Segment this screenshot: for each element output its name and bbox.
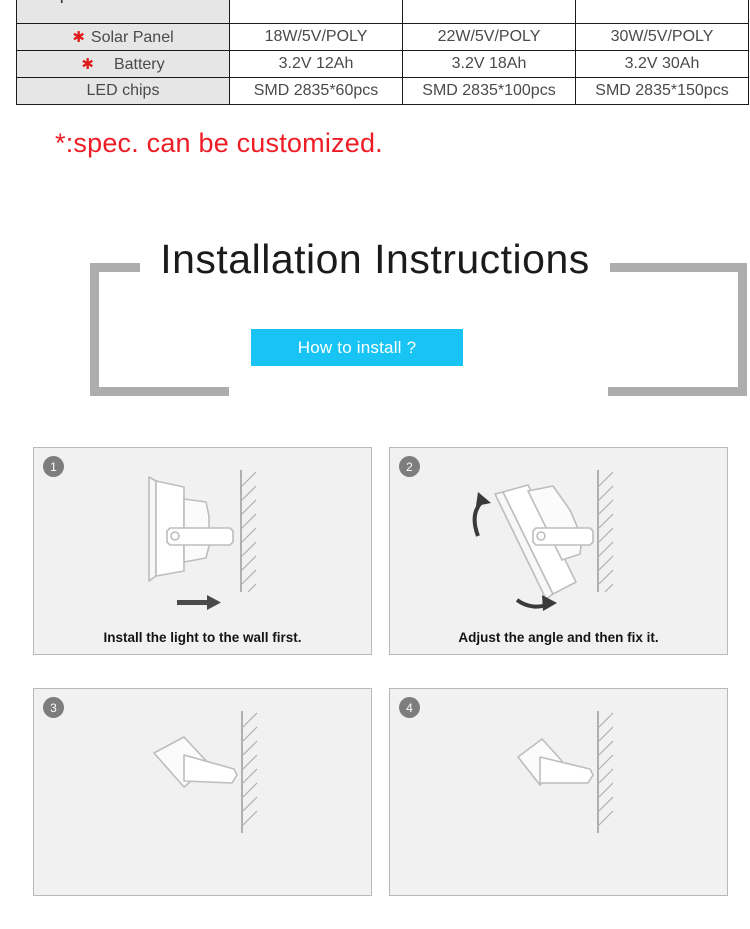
spec-row-label: ✱Battery	[17, 51, 230, 78]
diagonal-divider-icon	[17, 0, 229, 23]
step-panel-3: 3	[33, 688, 372, 896]
spec-cell: SMD 2835*150pcs	[576, 78, 749, 105]
step-3-illustration	[34, 695, 372, 863]
spec-row-label-text: LED chips	[87, 82, 160, 100]
step-number-badge: 4	[399, 697, 420, 718]
spec-row-label: LED chips	[17, 78, 230, 105]
step-row-2: 3	[33, 688, 729, 896]
step-panel-2: 2	[389, 447, 728, 655]
spec-header-cell: Spec.	[17, 0, 230, 24]
spec-cell: 3.2V 30Ah	[576, 51, 749, 78]
arrow-right-icon	[177, 595, 221, 610]
table-row: ✱Solar Panel 18W/5V/POLY 22W/5V/POLY 30W…	[17, 24, 749, 51]
step-panel-1: 1	[33, 447, 372, 655]
step-2-illustration	[390, 454, 728, 622]
spec-table-header-row: Spec.	[17, 0, 749, 24]
step-caption: Install the light to the wall first.	[34, 630, 371, 645]
spec-row-label-text: Battery	[114, 56, 165, 74]
step-number-badge: 3	[43, 697, 64, 718]
page-title-wrapper: Installation Instructions	[140, 233, 610, 285]
spec-header-blank-2	[403, 0, 576, 24]
step-1-illustration	[34, 454, 372, 622]
spec-row-label-text: Solar Panel	[91, 29, 174, 47]
table-row: ✱Battery 3.2V 12Ah 3.2V 18Ah 3.2V 30Ah	[17, 51, 749, 78]
star-icon: ✱	[81, 56, 94, 73]
spec-cell: 30W/5V/POLY	[576, 24, 749, 51]
step-caption: Adjust the angle and then fix it.	[390, 630, 727, 645]
spec-table: Spec. ✱Solar Panel 18W/5V/POLY 22W/5V/PO…	[16, 0, 749, 105]
spec-cell: 3.2V 18Ah	[403, 51, 576, 78]
step-row-1: 1	[33, 447, 729, 655]
step-number-badge: 1	[43, 456, 64, 477]
spec-header-blank-3	[576, 0, 749, 24]
installation-heading-block: Installation Instructions How to install…	[0, 225, 750, 390]
step-4-illustration	[390, 695, 728, 863]
how-to-install-button[interactable]: How to install ?	[251, 329, 463, 366]
arrow-head-up-icon	[476, 492, 491, 506]
arrow-curve-up-icon	[475, 500, 484, 536]
spec-cell: SMD 2835*60pcs	[230, 78, 403, 105]
table-row: LED chips SMD 2835*60pcs SMD 2835*100pcs…	[17, 78, 749, 105]
spec-row-label: ✱Solar Panel	[17, 24, 230, 51]
spec-cell: 3.2V 12Ah	[230, 51, 403, 78]
customization-note: *:spec. can be customized.	[55, 128, 383, 159]
page-title: Installation Instructions	[140, 233, 610, 285]
step-number-badge: 2	[399, 456, 420, 477]
spec-header-blank-1	[230, 0, 403, 24]
spec-cell: SMD 2835*100pcs	[403, 78, 576, 105]
installation-steps: 1	[33, 447, 729, 929]
star-icon: ✱	[72, 29, 85, 46]
bracket-right-decoration	[608, 263, 747, 396]
step-panel-4: 4	[389, 688, 728, 896]
spec-cell: 22W/5V/POLY	[403, 24, 576, 51]
spec-cell: 18W/5V/POLY	[230, 24, 403, 51]
